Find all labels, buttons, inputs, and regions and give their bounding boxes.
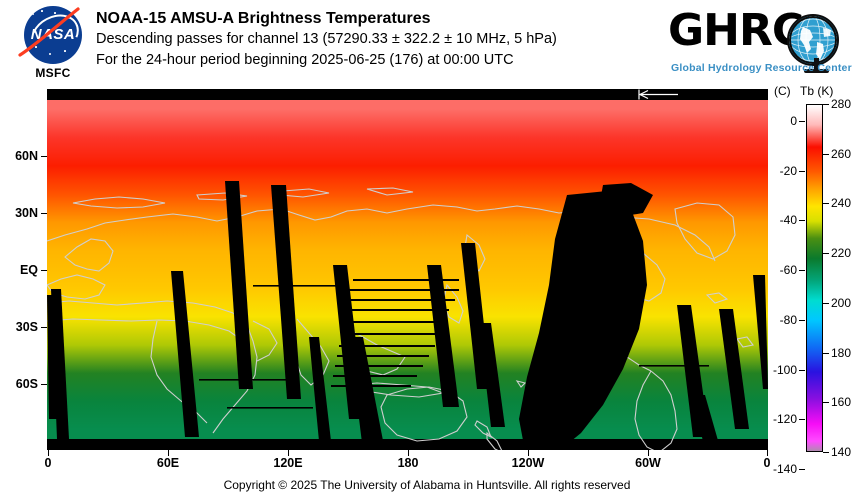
nasa-logo: NASA MSFC <box>14 4 86 84</box>
colorbar-tick-kelvin <box>823 402 829 403</box>
colorbar-tick-kelvin <box>823 353 829 354</box>
colorbar-label-kelvin: 200 <box>831 296 851 310</box>
colorbar-tick-celsius <box>799 121 805 122</box>
ghrc-full-name: Global Hydrology Resource Center <box>671 62 852 74</box>
y-tick-label: 30N <box>2 206 38 220</box>
colorbar-label-celsius: 0 <box>771 114 797 128</box>
colorbar-label-celsius: -140 <box>771 462 797 476</box>
title-block: NOAA-15 AMSU-A Brightness Temperatures D… <box>96 8 557 71</box>
channel-subtitle: Descending passes for channel 13 (57290.… <box>96 29 557 50</box>
colorbar-tick-kelvin <box>823 154 829 155</box>
colorbar-label-celsius: -40 <box>771 213 797 227</box>
colorbar-tick-kelvin <box>823 452 829 453</box>
colorbar-tick-celsius <box>799 220 805 221</box>
colorbar-label-kelvin: 220 <box>831 246 851 260</box>
colorbar-tick-kelvin <box>823 104 829 105</box>
colorbar-label-kelvin: 160 <box>831 395 851 409</box>
ghrc-acronym: GHRC <box>668 6 803 56</box>
colorbar-tick-celsius <box>799 171 805 172</box>
colorbar-label-kelvin: 260 <box>831 147 851 161</box>
colorbar-label-kelvin: 240 <box>831 196 851 210</box>
colorbar-kelvin-unit: Tb (K) <box>800 84 833 98</box>
x-tick-label: 60E <box>157 456 179 470</box>
colorbar-tick-kelvin <box>823 253 829 254</box>
colorbar-tick-celsius <box>799 419 805 420</box>
colorbar-label-kelvin: 180 <box>831 346 851 360</box>
x-tick-label: 180 <box>398 456 419 470</box>
x-tick-label: 0 <box>764 456 771 470</box>
colorbar-celsius-unit: (C) <box>774 84 791 98</box>
page-header: NASA MSFC NOAA-15 AMSU-A Brightness Temp… <box>0 0 854 88</box>
colorbar-label-kelvin: 140 <box>831 445 851 459</box>
colorbar-label-celsius: -60 <box>771 263 797 277</box>
colorbar-tick-celsius <box>799 469 805 470</box>
y-tick-label: EQ <box>2 263 38 277</box>
copyright-notice: Copyright © 2025 The University of Alaba… <box>0 478 854 492</box>
colorbar-tick-celsius <box>799 370 805 371</box>
x-tick-label: 120W <box>512 456 545 470</box>
globe-icon <box>787 14 839 66</box>
colorbar-tick-kelvin <box>823 203 829 204</box>
colorbar-gradient <box>806 104 823 452</box>
nasa-center-label: MSFC <box>14 66 92 80</box>
data-gap-swaths <box>47 89 768 450</box>
brightness-temperature-map[interactable] <box>47 89 768 450</box>
colorbar-label-celsius: -20 <box>771 164 797 178</box>
colorbar-tick-celsius <box>799 270 805 271</box>
x-tick-label: 0 <box>45 456 52 470</box>
colorbar-label-celsius: -120 <box>771 412 797 426</box>
x-tick-label: 60W <box>635 456 661 470</box>
y-tick-label: 60S <box>2 377 38 391</box>
ghrc-logo: GHRC <box>668 6 840 82</box>
colorbar-label-celsius: -80 <box>771 313 797 327</box>
x-tick-label: 120E <box>273 456 302 470</box>
period-subtitle: For the 24-hour period beginning 2025-06… <box>96 50 557 71</box>
nasa-swoosh-icon <box>16 5 80 65</box>
y-tick-label: 60N <box>2 149 38 163</box>
y-tick-label: 30S <box>2 320 38 334</box>
colorbar[interactable] <box>806 104 823 452</box>
map-panel[interactable] <box>47 89 768 450</box>
page-title: NOAA-15 AMSU-A Brightness Temperatures <box>96 8 557 29</box>
colorbar-tick-celsius <box>799 320 805 321</box>
colorbar-label-kelvin: 280 <box>831 97 851 111</box>
colorbar-tick-kelvin <box>823 303 829 304</box>
colorbar-label-celsius: -100 <box>771 363 797 377</box>
